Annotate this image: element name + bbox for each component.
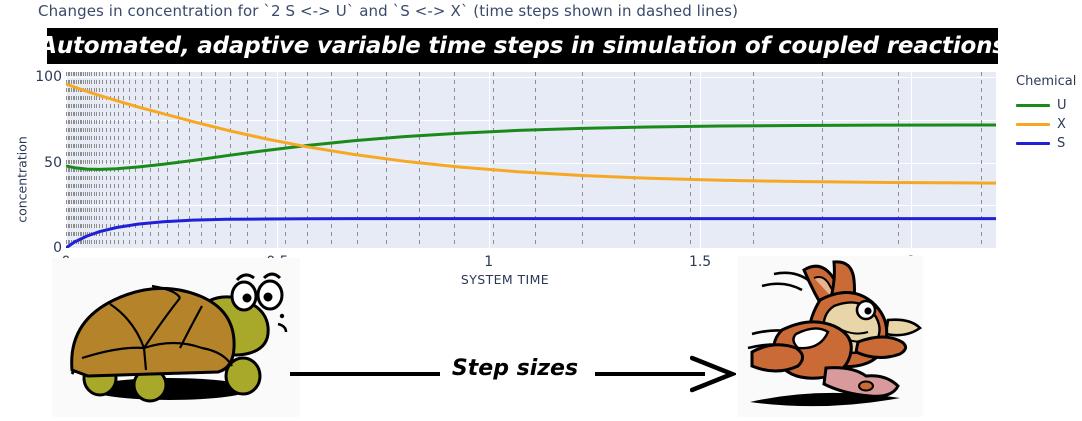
page-caption: Changes in concentration for `2 S <-> U`… xyxy=(38,2,738,20)
legend-swatch-icon xyxy=(1016,142,1050,145)
legend-swatch-icon xyxy=(1016,123,1050,126)
arrow-line-right xyxy=(595,372,705,376)
series-line-S xyxy=(66,219,996,248)
legend-item-label: U xyxy=(1057,98,1067,113)
title-banner: Automated, adaptive variable time steps … xyxy=(47,28,998,64)
series-line-U xyxy=(66,125,996,169)
chart-legend: Chemical UXS xyxy=(1016,74,1082,153)
y-axis-tick-label: 100 xyxy=(35,69,62,85)
hare-icon xyxy=(738,256,923,417)
legend-item-label: S xyxy=(1057,136,1065,151)
plot-area xyxy=(66,72,996,248)
tortoise-icon xyxy=(52,258,300,417)
hare-illustration xyxy=(738,256,923,417)
x-axis-tick-label: 1 xyxy=(484,254,493,270)
legend-item-S[interactable]: S xyxy=(1016,134,1082,153)
y-axis-ticks: 050100 xyxy=(26,64,62,250)
legend-item-X[interactable]: X xyxy=(1016,115,1082,134)
legend-item-U[interactable]: U xyxy=(1016,96,1082,115)
legend-title: Chemical xyxy=(1016,74,1082,89)
arrow-line-left xyxy=(290,372,440,376)
x-axis-tick-label: 1.5 xyxy=(689,254,711,270)
y-axis-tick-label: 50 xyxy=(44,155,62,171)
arrow-head-icon xyxy=(690,354,736,394)
tortoise-illustration xyxy=(52,258,300,417)
grid-line-horizontal xyxy=(66,248,996,249)
series-container xyxy=(66,72,996,248)
legend-swatch-icon xyxy=(1016,104,1050,107)
arrow-label: Step sizes xyxy=(440,356,590,381)
legend-entries: UXS xyxy=(1016,96,1082,153)
banner-title: Automated, adaptive variable time steps … xyxy=(47,28,998,64)
step-size-arrow: Step sizes xyxy=(290,352,735,402)
legend-item-label: X xyxy=(1057,117,1066,132)
series-line-X xyxy=(66,84,996,183)
